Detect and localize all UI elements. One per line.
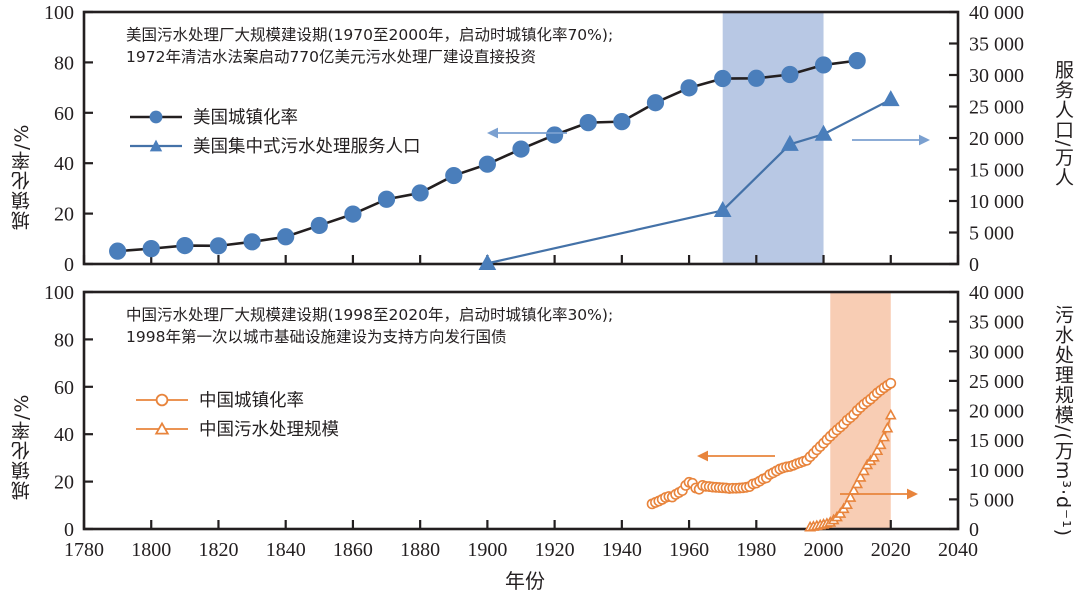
x-tick-label: 1940	[602, 539, 642, 561]
y-tick-label-right: 35 000	[969, 34, 1024, 56]
x-tick-label: 2020	[871, 539, 911, 561]
y-tick-label-right: 5 000	[969, 223, 1014, 245]
y-tick-label-left: 0	[64, 519, 74, 541]
y-tick-label-right: 15 000	[969, 430, 1024, 452]
legend-item-us-urbanization[interactable]: 美国城镇化率	[128, 102, 421, 131]
y-tick-label-right: 10 000	[969, 191, 1024, 213]
legend-item-us-served-population[interactable]: 美国集中式污水处理服务人口	[128, 131, 421, 160]
china-legend: 中国城镇化率 中国污水处理规模	[134, 385, 339, 443]
legend-swatch-triangle-open-orange	[134, 420, 190, 438]
x-axis-label: 年份	[505, 565, 545, 594]
x-tick-label: 1900	[467, 539, 507, 561]
y-tick-label-left: 20	[54, 204, 74, 226]
y-tick-label-left: 60	[54, 103, 74, 125]
data-point-marker	[446, 167, 462, 183]
legend-label-us-served-population: 美国集中式污水处理服务人口	[193, 133, 421, 158]
legend-swatch-circle-filled-blue	[128, 108, 184, 126]
y-tick-label-right: 10 000	[969, 460, 1024, 482]
y-tick-label-left: 40	[54, 153, 74, 175]
y-tick-label-right: 30 000	[969, 341, 1024, 363]
left-axis-arrow-head	[697, 451, 708, 462]
x-tick-label: 1840	[266, 539, 306, 561]
x-tick-label: 2000	[804, 539, 844, 561]
y-tick-label-left: 80	[54, 52, 74, 74]
legend-swatch-circle-open-orange	[134, 391, 190, 409]
data-point-marker	[177, 237, 193, 253]
y-tick-label-left: 60	[54, 377, 74, 399]
y-tick-label-left: 100	[44, 2, 74, 24]
y-tick-label-right: 25 000	[969, 97, 1024, 119]
data-point-marker	[479, 156, 495, 172]
y-tick-label-left: 20	[54, 472, 74, 494]
us-annotation: 美国污水处理厂大规模建设期(1970至2000年，启动时城镇化率70%); 19…	[126, 24, 613, 69]
legend-item-china-treatment-capacity[interactable]: 中国污水处理规模	[134, 414, 339, 443]
legend-swatch-triangle-filled-blue	[128, 137, 184, 155]
series-line-1	[487, 100, 890, 264]
y-tick-label-left: 100	[44, 283, 74, 304]
legend-label-china-urbanization: 中国城镇化率	[199, 387, 304, 412]
data-point-marker	[311, 217, 327, 233]
data-point-marker	[886, 379, 895, 388]
y-tick-label-right: 5 000	[969, 489, 1014, 511]
data-point-marker	[143, 240, 159, 256]
y-tick-label-right: 40 000	[969, 283, 1024, 304]
data-point-marker	[277, 229, 293, 245]
china-annotation-line2: 1998年第一次以城市基础设施建设为支持方向发行国债	[126, 326, 613, 348]
data-point-marker	[580, 114, 596, 130]
y-tick-label-right: 0	[969, 519, 979, 541]
y-tick-label-right: 35 000	[969, 312, 1024, 334]
y-tick-label-left: 40	[54, 424, 74, 446]
us-annotation-line1: 美国污水处理厂大规模建设期(1970至2000年，启动时城镇化率70%);	[126, 24, 613, 46]
y-tick-label-right: 0	[969, 254, 979, 276]
y-tick-label-left: 0	[64, 254, 74, 276]
y-tick-label-right: 25 000	[969, 371, 1024, 393]
y-tick-label-right: 20 000	[969, 128, 1024, 150]
data-point-marker	[109, 243, 125, 259]
x-tick-label: 1920	[535, 539, 575, 561]
right-axis-arrow-head	[919, 135, 930, 146]
y-tick-label-left: 80	[54, 329, 74, 351]
x-tick-label: 1780	[64, 539, 104, 561]
data-point-marker	[782, 66, 798, 82]
y-tick-label-right: 15 000	[969, 160, 1024, 182]
legend-item-china-urbanization[interactable]: 中国城镇化率	[134, 385, 339, 414]
x-tick-label: 1880	[400, 539, 440, 561]
y-tick-label-right: 40 000	[969, 2, 1024, 24]
data-point-marker	[546, 127, 562, 143]
data-point-marker	[412, 185, 428, 201]
data-point-marker	[681, 80, 697, 96]
x-tick-label: 1860	[333, 539, 373, 561]
x-tick-label: 2040	[938, 539, 978, 561]
data-point-marker	[748, 70, 764, 86]
x-tick-label: 1980	[736, 539, 776, 561]
y-tick-label-right: 20 000	[969, 401, 1024, 423]
legend-label-china-treatment-capacity: 中国污水处理规模	[199, 416, 339, 441]
china-annotation-line1: 中国污水处理厂大规模建设期(1998至2020年，启动时城镇化率30%);	[126, 304, 613, 326]
data-point-marker	[883, 91, 899, 106]
data-point-marker	[210, 238, 226, 254]
x-tick-label: 1800	[131, 539, 171, 561]
left-axis-arrow-head	[487, 128, 498, 139]
right-axis-arrow-head	[907, 489, 918, 500]
us-annotation-line2: 1972年清洁水法案启动770亿美元污水处理厂建设直接投资	[126, 46, 613, 68]
data-point-marker	[815, 57, 831, 73]
data-point-marker	[849, 52, 865, 68]
data-point-marker	[513, 141, 529, 157]
y-tick-label-right: 30 000	[969, 65, 1024, 87]
data-point-marker	[647, 95, 663, 111]
data-point-marker	[244, 234, 260, 250]
china-annotation: 中国污水处理厂大规模建设期(1998至2020年，启动时城镇化率30%); 19…	[126, 304, 613, 349]
figure-root: 城镇化率/% 服务人口/万人 02040608010005 00010 0001…	[0, 0, 1080, 597]
us-legend: 美国城镇化率 美国集中式污水处理服务人口	[128, 102, 421, 160]
x-tick-label: 1960	[669, 539, 709, 561]
data-point-marker	[714, 70, 730, 86]
data-point-marker	[614, 113, 630, 129]
legend-label-us-urbanization: 美国城镇化率	[193, 104, 298, 129]
x-tick-label: 1820	[198, 539, 238, 561]
data-point-marker	[345, 206, 361, 222]
data-point-marker	[378, 191, 394, 207]
